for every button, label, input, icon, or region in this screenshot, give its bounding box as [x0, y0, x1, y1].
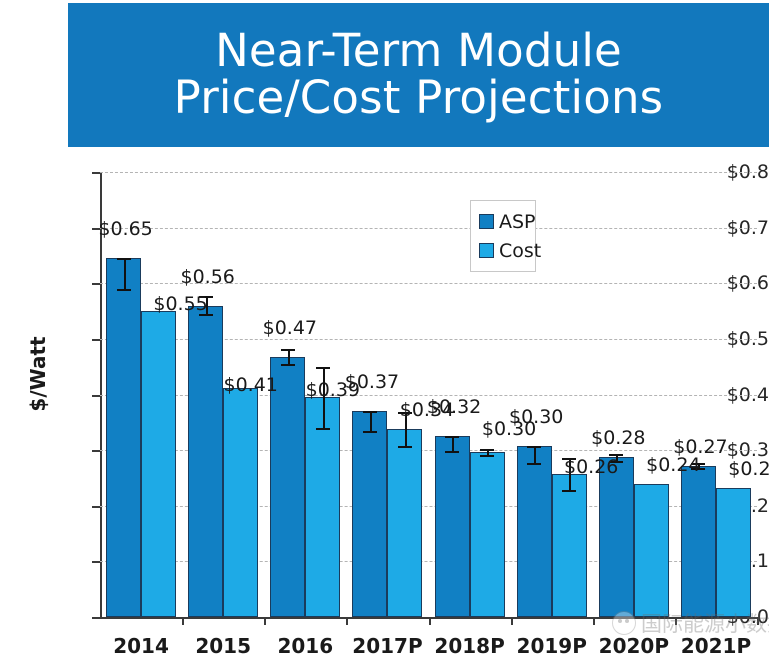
error-bar-cap	[281, 364, 295, 366]
data-label-cost-2019P: $0.26	[564, 456, 618, 478]
error-bar-cap	[398, 446, 412, 448]
error-bar-cap	[445, 436, 459, 438]
bar-cost-2018P[interactable]	[470, 452, 505, 617]
chart-title-line-1: Near-Term Module	[215, 28, 622, 75]
error-bar-cap	[281, 349, 295, 351]
error-bar-cap	[480, 455, 494, 457]
data-label-asp-2018P: $0.32	[427, 396, 481, 418]
bar-asp-2020P[interactable]	[599, 457, 634, 617]
x-tick-label-2018P: 2018P	[434, 634, 504, 658]
x-tick-mark	[264, 617, 266, 625]
error-bar-cap	[445, 451, 459, 453]
x-tick-mark	[757, 617, 759, 625]
error-bar-cap	[527, 463, 541, 465]
bar-cost-2015[interactable]	[223, 388, 258, 617]
x-tick-mark	[346, 617, 348, 625]
bar-cost-2016[interactable]	[305, 397, 340, 617]
bar-asp-2019P[interactable]	[517, 446, 552, 617]
legend-swatch-cost-icon	[479, 243, 494, 258]
data-label-asp-2016: $0.47	[263, 317, 317, 339]
error-bar-line	[124, 258, 126, 289]
error-bar-cap	[562, 490, 576, 492]
bar-asp-2015[interactable]	[188, 306, 223, 618]
x-tick-label-2017P: 2017P	[352, 634, 422, 658]
plot-area: $0.65$0.55$0.56$0.41$0.47$0.39$0.37$0.34…	[100, 172, 757, 617]
legend-label-cost: Cost	[499, 240, 541, 262]
y-axis-label: $/Watt	[26, 314, 50, 434]
gridline	[100, 228, 757, 229]
bar-cost-2014[interactable]	[141, 311, 176, 617]
error-bar-cap	[117, 289, 131, 291]
data-label-asp-2020P: $0.28	[591, 427, 645, 449]
bar-asp-2018P[interactable]	[435, 436, 470, 617]
error-bar-cap	[480, 449, 494, 451]
error-bar-cap	[527, 446, 541, 448]
data-label-asp-2017P: $0.37	[345, 371, 399, 393]
error-bar-cap	[316, 428, 330, 430]
x-tick-label-2015: 2015	[195, 634, 251, 658]
error-bar-line	[288, 349, 290, 364]
x-tick-label-2020P: 2020P	[599, 634, 669, 658]
x-tick-mark	[675, 617, 677, 625]
bar-cost-2021P[interactable]	[716, 488, 751, 617]
bar-cost-2019P[interactable]	[552, 474, 587, 617]
x-tick-mark	[182, 617, 184, 625]
x-tick-label-2021P: 2021P	[681, 634, 751, 658]
legend-item-cost[interactable]: Cost	[479, 236, 527, 265]
x-tick-label-2016: 2016	[277, 634, 333, 658]
bar-cost-2017P[interactable]	[387, 429, 422, 617]
error-bar-cap	[316, 367, 330, 369]
error-bar-line	[534, 446, 536, 463]
bar-cost-2020P[interactable]	[634, 484, 669, 618]
legend-item-asp[interactable]: ASP	[479, 207, 527, 236]
error-bar-cap	[363, 411, 377, 413]
bar-asp-2014[interactable]	[106, 258, 141, 617]
chart-figure: $/Watt $0.8$0.7$0.6$0.5$0.4$0.3$0.2$0.1$…	[0, 147, 769, 667]
legend-swatch-asp-icon	[479, 214, 494, 229]
data-label-cost-2021P: $0.23	[728, 458, 769, 480]
error-bar-line	[370, 411, 372, 430]
error-bar-line	[452, 436, 454, 451]
data-label-cost-2014: $0.55	[153, 293, 207, 315]
chart-title-line-2: Price/Cost Projections	[174, 75, 664, 122]
error-bar-cap	[117, 258, 131, 260]
x-tick-label-2019P: 2019P	[517, 634, 587, 658]
chart-title-banner: Near-Term Module Price/Cost Projections	[68, 3, 769, 147]
bar-asp-2021P[interactable]	[681, 466, 716, 617]
error-bar-cap	[363, 431, 377, 433]
chart-legend: ASP Cost	[470, 200, 536, 272]
x-tick-mark	[429, 617, 431, 625]
x-tick-label-2014: 2014	[113, 634, 169, 658]
data-label-asp-2019P: $0.30	[509, 406, 563, 428]
data-label-asp-2014: $0.65	[98, 218, 152, 240]
data-label-asp-2015: $0.56	[180, 266, 234, 288]
data-label-asp-2021P: $0.27	[673, 436, 727, 458]
legend-label-asp: ASP	[499, 211, 536, 233]
data-label-cost-2015: $0.41	[223, 374, 277, 396]
gridline	[100, 172, 757, 173]
x-tick-mark	[593, 617, 595, 625]
x-tick-mark	[511, 617, 513, 625]
bar-asp-2017P[interactable]	[352, 411, 387, 617]
